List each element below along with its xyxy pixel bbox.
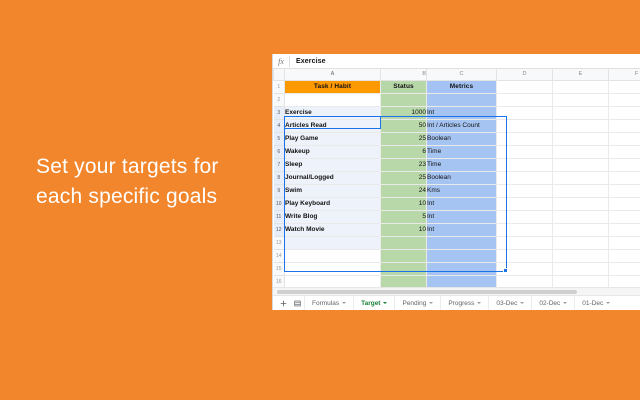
table-row[interactable]: 1 Task / Habit Status Metrics [274,80,640,93]
sheet-tab-label: 02-Dec [539,300,560,307]
cell-a16[interactable] [285,275,381,287]
cell-d9[interactable] [497,184,553,197]
cell-a6-task[interactable]: Wakeup [285,145,381,158]
row-header-16[interactable]: 16 [274,275,285,287]
cell-a4-task[interactable]: Articles Read [285,119,381,132]
column-header-b[interactable]: B [381,69,427,80]
cell-d12[interactable] [497,223,553,236]
spreadsheet-grid[interactable]: A B C D E F 1 Task / Habit Status Metric… [273,69,640,287]
chevron-down-icon[interactable] [429,302,433,304]
cell-f1[interactable] [609,80,640,93]
cell-a5-task[interactable]: Play Game [285,132,381,145]
cell-d4[interactable] [497,119,553,132]
table-row[interactable]: 8Journal/Logged25Boolean [274,171,640,184]
cell-d14[interactable] [497,249,553,262]
row-header-11[interactable]: 11 [274,210,285,223]
cell-f15[interactable] [609,262,640,275]
cell-f11[interactable] [609,210,640,223]
cell-f3[interactable] [609,106,640,119]
cell-c15[interactable] [427,262,497,275]
cell-f13[interactable] [609,236,640,249]
table-row[interactable]: 3Exercise1000Int [274,106,640,119]
cell-a15[interactable] [285,262,381,275]
sheet-tab-03-dec[interactable]: 03-Dec [488,296,531,311]
cell-c4-metrics[interactable]: Int / Articles Count [427,119,497,132]
cell-e3[interactable] [553,106,609,119]
table-row[interactable]: 7Sleep23Time [274,158,640,171]
cell-e4[interactable] [553,119,609,132]
cell-a13[interactable] [285,236,381,249]
horizontal-scrollbar[interactable] [273,287,640,295]
cell-b7-status[interactable]: 23 [381,158,427,171]
row-header-3[interactable]: 3 [274,106,285,119]
row-header-1[interactable]: 1 [274,80,285,93]
cell-e16[interactable] [553,275,609,287]
grid-area[interactable]: A B C D E F 1 Task / Habit Status Metric… [273,69,640,287]
promo-line-1: Set your targets for [36,152,261,182]
cell-f10[interactable] [609,197,640,210]
cell-e11[interactable] [553,210,609,223]
formula-bar[interactable]: fx Exercise [273,54,640,69]
cell-a12-task[interactable]: Watch Movie [285,223,381,236]
sheet-list-icon[interactable] [290,296,304,310]
empty-rows[interactable]: 13141516171819 [274,236,640,287]
cell-d1[interactable] [497,80,553,93]
cell-b13[interactable] [381,236,427,249]
cell-c8-metrics[interactable]: Boolean [427,171,497,184]
select-all-corner[interactable] [274,69,285,80]
table-row[interactable]: 4Articles Read50Int / Articles Count [274,119,640,132]
cell-a7-task[interactable]: Sleep [285,158,381,171]
cell-b11-status[interactable]: 5 [381,210,427,223]
cell-a3-task[interactable]: Exercise [285,106,381,119]
chevron-down-icon[interactable] [563,302,567,304]
table-row[interactable]: 10Play Keyboard10Int [274,197,640,210]
cell-c5-metrics[interactable]: Boolean [427,132,497,145]
sheet-tab-pending[interactable]: Pending [394,296,440,311]
column-header-d[interactable]: D [497,69,553,80]
sheet-tabs[interactable]: FormulasTargetPendingProgress03-Dec02-De… [304,296,617,311]
cell-d16[interactable] [497,275,553,287]
cell-d5[interactable] [497,132,553,145]
cell-b6-status[interactable]: 6 [381,145,427,158]
cell-c6-metrics[interactable]: Time [427,145,497,158]
cell-b4-status[interactable]: 50 [381,119,427,132]
function-icon: fx [273,57,289,66]
table-row[interactable]: 12Watch Movie10Int [274,223,640,236]
row-header-15[interactable]: 15 [274,262,285,275]
column-header-row: A B C D E F [274,69,640,80]
cell-c7-metrics[interactable]: Time [427,158,497,171]
row-header-14[interactable]: 14 [274,249,285,262]
table-row[interactable]: 5Play Game25Boolean [274,132,640,145]
row-header-9[interactable]: 9 [274,184,285,197]
cell-b16[interactable] [381,275,427,287]
cell-e12[interactable] [553,223,609,236]
row-header-2[interactable]: 2 [274,93,285,106]
cell-e8[interactable] [553,171,609,184]
spreadsheet-panel: fx Exercise A B C D E F 1 Task / Habit S… [272,54,640,310]
cell-f14[interactable] [609,249,640,262]
row-header-7[interactable]: 7 [274,158,285,171]
cell-a2[interactable] [285,93,381,106]
cell-e13[interactable] [553,236,609,249]
cell-f12[interactable] [609,223,640,236]
cell-d7[interactable] [497,158,553,171]
column-header-e[interactable]: E [553,69,609,80]
cell-c11-metrics[interactable]: Int [427,210,497,223]
sheet-tab-formulas[interactable]: Formulas [304,296,353,311]
sheet-tab-bar[interactable]: FormulasTargetPendingProgress03-Dec02-De… [273,295,640,310]
cell-b14[interactable] [381,249,427,262]
column-header-f[interactable]: F [609,69,640,80]
cell-a14[interactable] [285,249,381,262]
cell-f6[interactable] [609,145,640,158]
cell-a10-task[interactable]: Play Keyboard [285,197,381,210]
table-row[interactable]: 13 [274,236,640,249]
table-row[interactable]: 6Wakeup6Time [274,145,640,158]
promo-line-2: each specific goals [36,182,261,212]
cell-c13[interactable] [427,236,497,249]
cell-f7[interactable] [609,158,640,171]
chevron-down-icon[interactable] [520,302,524,304]
cell-c1-metrics-header[interactable]: Metrics [427,80,497,93]
sheet-tab-label: Formulas [312,300,339,307]
table-row[interactable]: 16 [274,275,640,287]
cell-f16[interactable] [609,275,640,287]
cell-d3[interactable] [497,106,553,119]
cell-d15[interactable] [497,262,553,275]
plus-icon[interactable] [276,296,290,310]
column-header-a[interactable]: A [285,69,381,80]
horizontal-scrollbar-thumb[interactable] [277,290,577,294]
cell-f2[interactable] [609,93,640,106]
sheet-tab-01-dec[interactable]: 01-Dec [574,296,617,311]
chevron-down-icon[interactable] [477,302,481,304]
cell-d8[interactable] [497,171,553,184]
cell-e2[interactable] [553,93,609,106]
cell-b2[interactable] [381,93,427,106]
chevron-down-icon[interactable] [606,302,610,304]
table-row[interactable]: 14 [274,249,640,262]
row-header-10[interactable]: 10 [274,197,285,210]
cell-b10-status[interactable]: 10 [381,197,427,210]
cell-e14[interactable] [553,249,609,262]
cell-c12-metrics[interactable]: Int [427,223,497,236]
cell-c9-metrics[interactable]: Kms [427,184,497,197]
cell-d10[interactable] [497,197,553,210]
row-header-5[interactable]: 5 [274,132,285,145]
row-header-12[interactable]: 12 [274,223,285,236]
cell-c3-metrics[interactable]: Int [427,106,497,119]
data-rows[interactable]: 3Exercise1000Int4Articles Read50Int / Ar… [274,106,640,236]
cell-e5[interactable] [553,132,609,145]
chevron-down-icon[interactable] [342,302,346,304]
cell-a9-task[interactable]: Swim [285,184,381,197]
row-header-6[interactable]: 6 [274,145,285,158]
cell-e7[interactable] [553,158,609,171]
cell-b12-status[interactable]: 10 [381,223,427,236]
cell-b8-status[interactable]: 25 [381,171,427,184]
cell-f9[interactable] [609,184,640,197]
cell-b9-status[interactable]: 24 [381,184,427,197]
cell-b1-status-header[interactable]: Status [381,80,427,93]
cell-e9[interactable] [553,184,609,197]
cell-e10[interactable] [553,197,609,210]
table-row[interactable]: 11Write Blog5Int [274,210,640,223]
table-row[interactable]: 2 [274,93,640,106]
sheet-tab-label: Progress [448,300,474,307]
cell-d2[interactable] [497,93,553,106]
sheet-tab-02-dec[interactable]: 02-Dec [531,296,574,311]
cell-b3-status[interactable]: 1000 [381,106,427,119]
sheet-tab-progress[interactable]: Progress [440,296,488,311]
sheet-tab-label: Pending [402,300,426,307]
sheet-tab-label: 03-Dec [496,300,517,307]
cell-d6[interactable] [497,145,553,158]
promo-text: Set your targets for each specific goals [36,152,261,212]
cell-a11-task[interactable]: Write Blog [285,210,381,223]
cell-f8[interactable] [609,171,640,184]
cell-e15[interactable] [553,262,609,275]
cell-b15[interactable] [381,262,427,275]
cell-d11[interactable] [497,210,553,223]
cell-c14[interactable] [427,249,497,262]
table-row[interactable]: 15 [274,262,640,275]
cell-a8-task[interactable]: Journal/Logged [285,171,381,184]
cell-a1-task-header[interactable]: Task / Habit [285,80,381,93]
table-row[interactable]: 9Swim24Kms [274,184,640,197]
sheet-tab-label: Target [361,300,380,307]
cell-c2[interactable] [427,93,497,106]
cell-e1[interactable] [553,80,609,93]
cell-f5[interactable] [609,132,640,145]
cell-f4[interactable] [609,119,640,132]
cell-e6[interactable] [553,145,609,158]
column-header-c[interactable]: C [427,69,497,80]
row-header-8[interactable]: 8 [274,171,285,184]
cell-b5-status[interactable]: 25 [381,132,427,145]
formula-input[interactable]: Exercise [290,58,326,65]
chevron-down-icon[interactable] [383,302,387,304]
row-header-13[interactable]: 13 [274,236,285,249]
sheet-tab-target[interactable]: Target [353,296,394,311]
cell-c16[interactable] [427,275,497,287]
row-header-4[interactable]: 4 [274,119,285,132]
cell-c10-metrics[interactable]: Int [427,197,497,210]
sheet-tab-label: 01-Dec [582,300,603,307]
cell-d13[interactable] [497,236,553,249]
